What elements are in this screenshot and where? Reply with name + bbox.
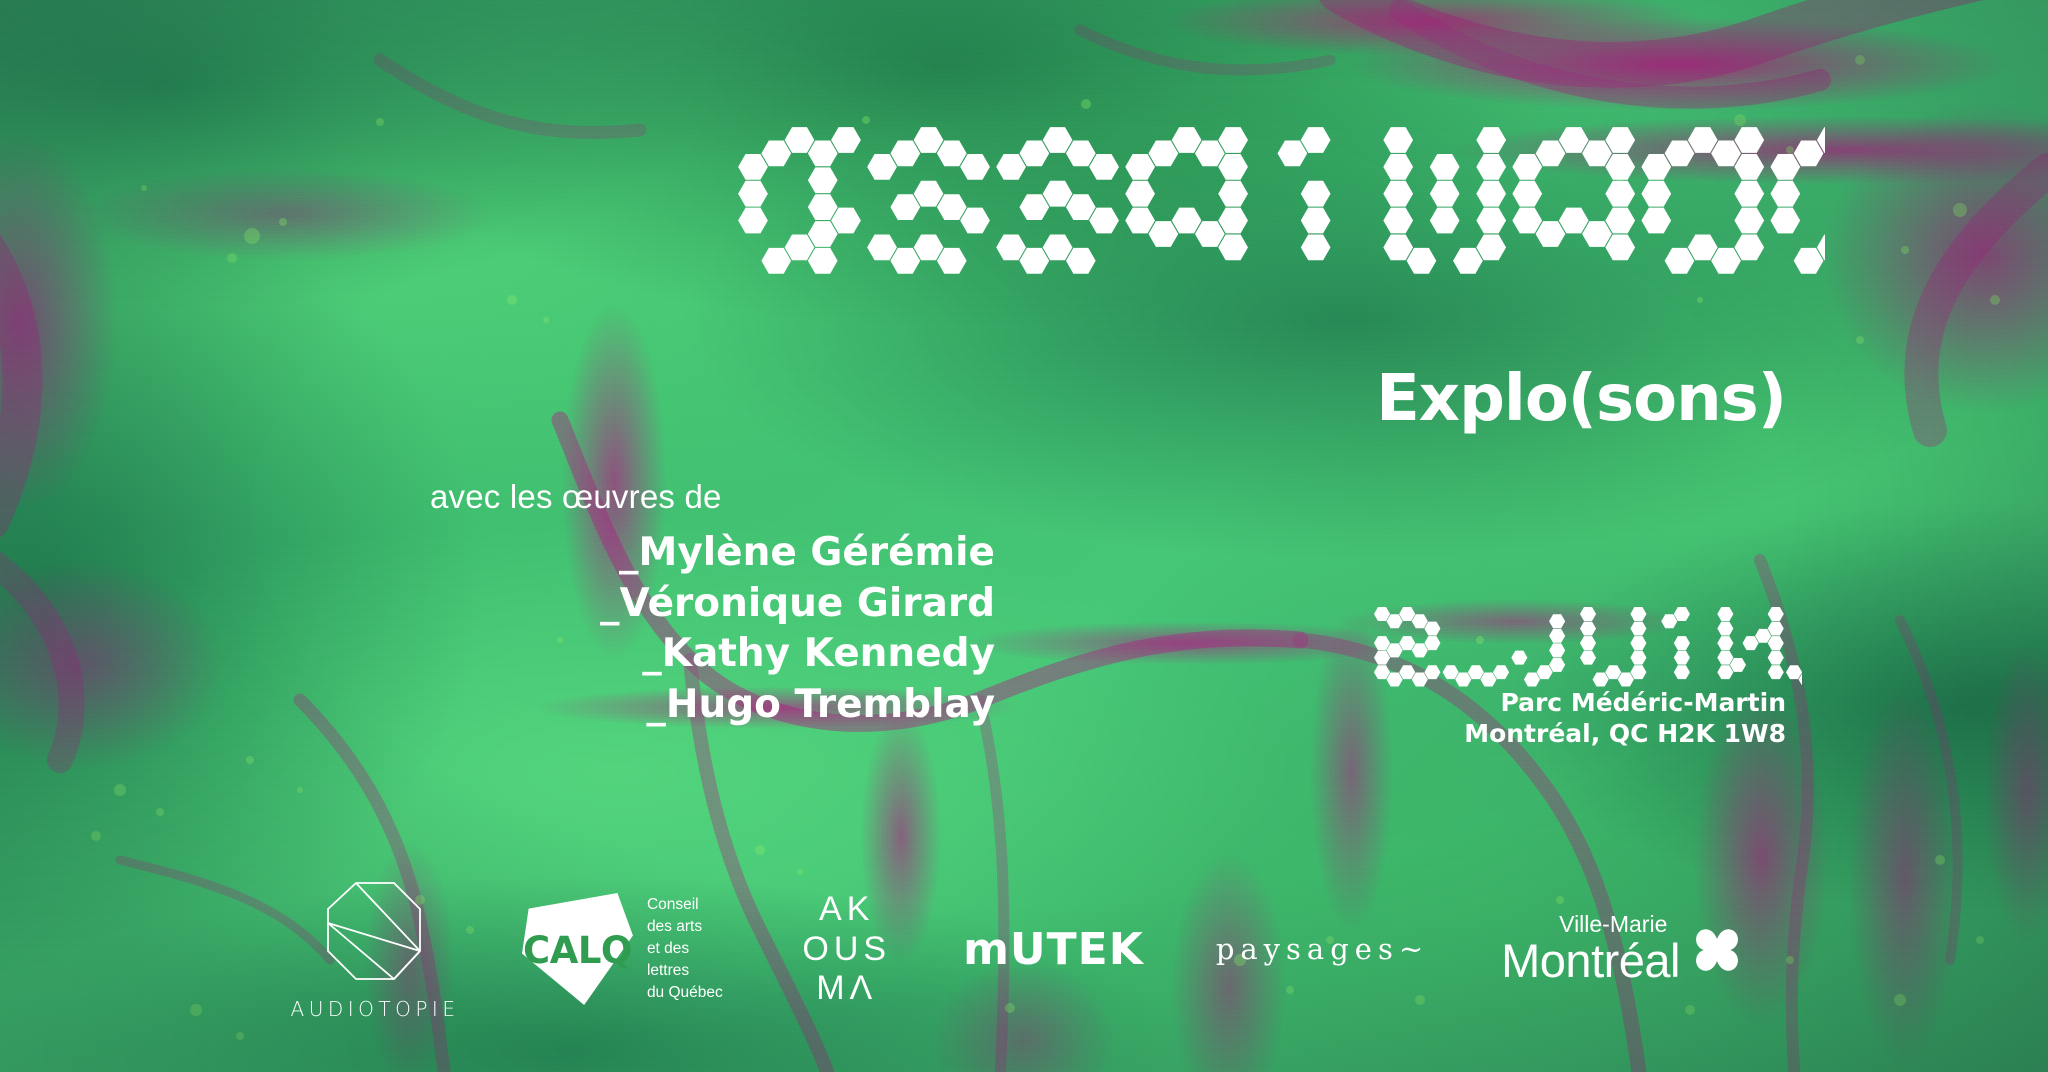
list-item: _Hugo Tremblay [430,680,995,731]
partner-logos-strip: AUDIOTOPIE CALQ Conseil des arts et des … [0,854,2048,1044]
list-item: _Kathy Kennedy [430,629,995,680]
list-item: _Véronique Girard [430,579,995,630]
subtitle: Explo(sons) [1376,362,1786,436]
artists-list: _Mylène Gérémie _Véronique Girard _Kathy… [430,528,995,731]
logo-paysages-wordmark: paysages~ [1216,932,1429,966]
list-item: _Mylène Gérémie [430,528,995,579]
octagon-network-icon [316,877,434,989]
logo-calq[interactable]: CALQ Conseil des arts et des lettres du … [522,893,730,1005]
logo-akousma-line-3: MΛ [816,970,877,1007]
artists-intro-label: avec les œuvres de [430,478,995,516]
calq-diamond-icon: CALQ [522,893,633,1005]
event-date [1372,600,1802,692]
venue-line-2: Montréal, QC H2K 1W8 [1464,719,1786,750]
logo-akousma-line-1: AK [819,891,874,928]
logo-mutek[interactable]: mUTEK [963,924,1144,975]
logo-akousma[interactable]: AK OUS MΛ [802,891,891,1007]
logo-audiotopie[interactable]: AUDIOTOPIE [300,877,450,1021]
logo-audiotopie-wordmark: AUDIOTOPIE [291,997,460,1021]
logo-akousma-line-2: OUS [802,931,891,968]
logo-montreal-borough: Ville-Marie [1559,913,1667,936]
poster-content: Explo(sons) avec les œuvres de _Mylène G… [0,0,2048,1072]
venue-line-1: Parc Médéric-Martin [1464,688,1786,719]
date-hex-glyphs-icon [1372,600,1802,692]
logo-calq-wordmark: CALQ [522,929,633,972]
logo-montreal-city: Montréal [1501,936,1680,985]
montreal-flower-icon [1686,919,1748,981]
artists-block: avec les œuvres de _Mylène Gérémie _Véro… [430,478,995,731]
logo-mutek-wordmark: mUTEK [963,924,1144,975]
logo-calq-subtitle: Conseil des arts et des lettres du Québe… [647,894,730,1004]
poster-canvas: Explo(sons) avec les œuvres de _Mylène G… [0,0,2048,1072]
logo-paysages[interactable]: paysages~ [1216,932,1429,966]
page-title [735,118,1825,283]
venue-address: Parc Médéric-Martin Montréal, QC H2K 1W8 [1464,688,1786,749]
logo-montreal[interactable]: Ville-Marie Montréal [1501,913,1748,985]
title-hex-glyphs-icon [735,118,1825,283]
